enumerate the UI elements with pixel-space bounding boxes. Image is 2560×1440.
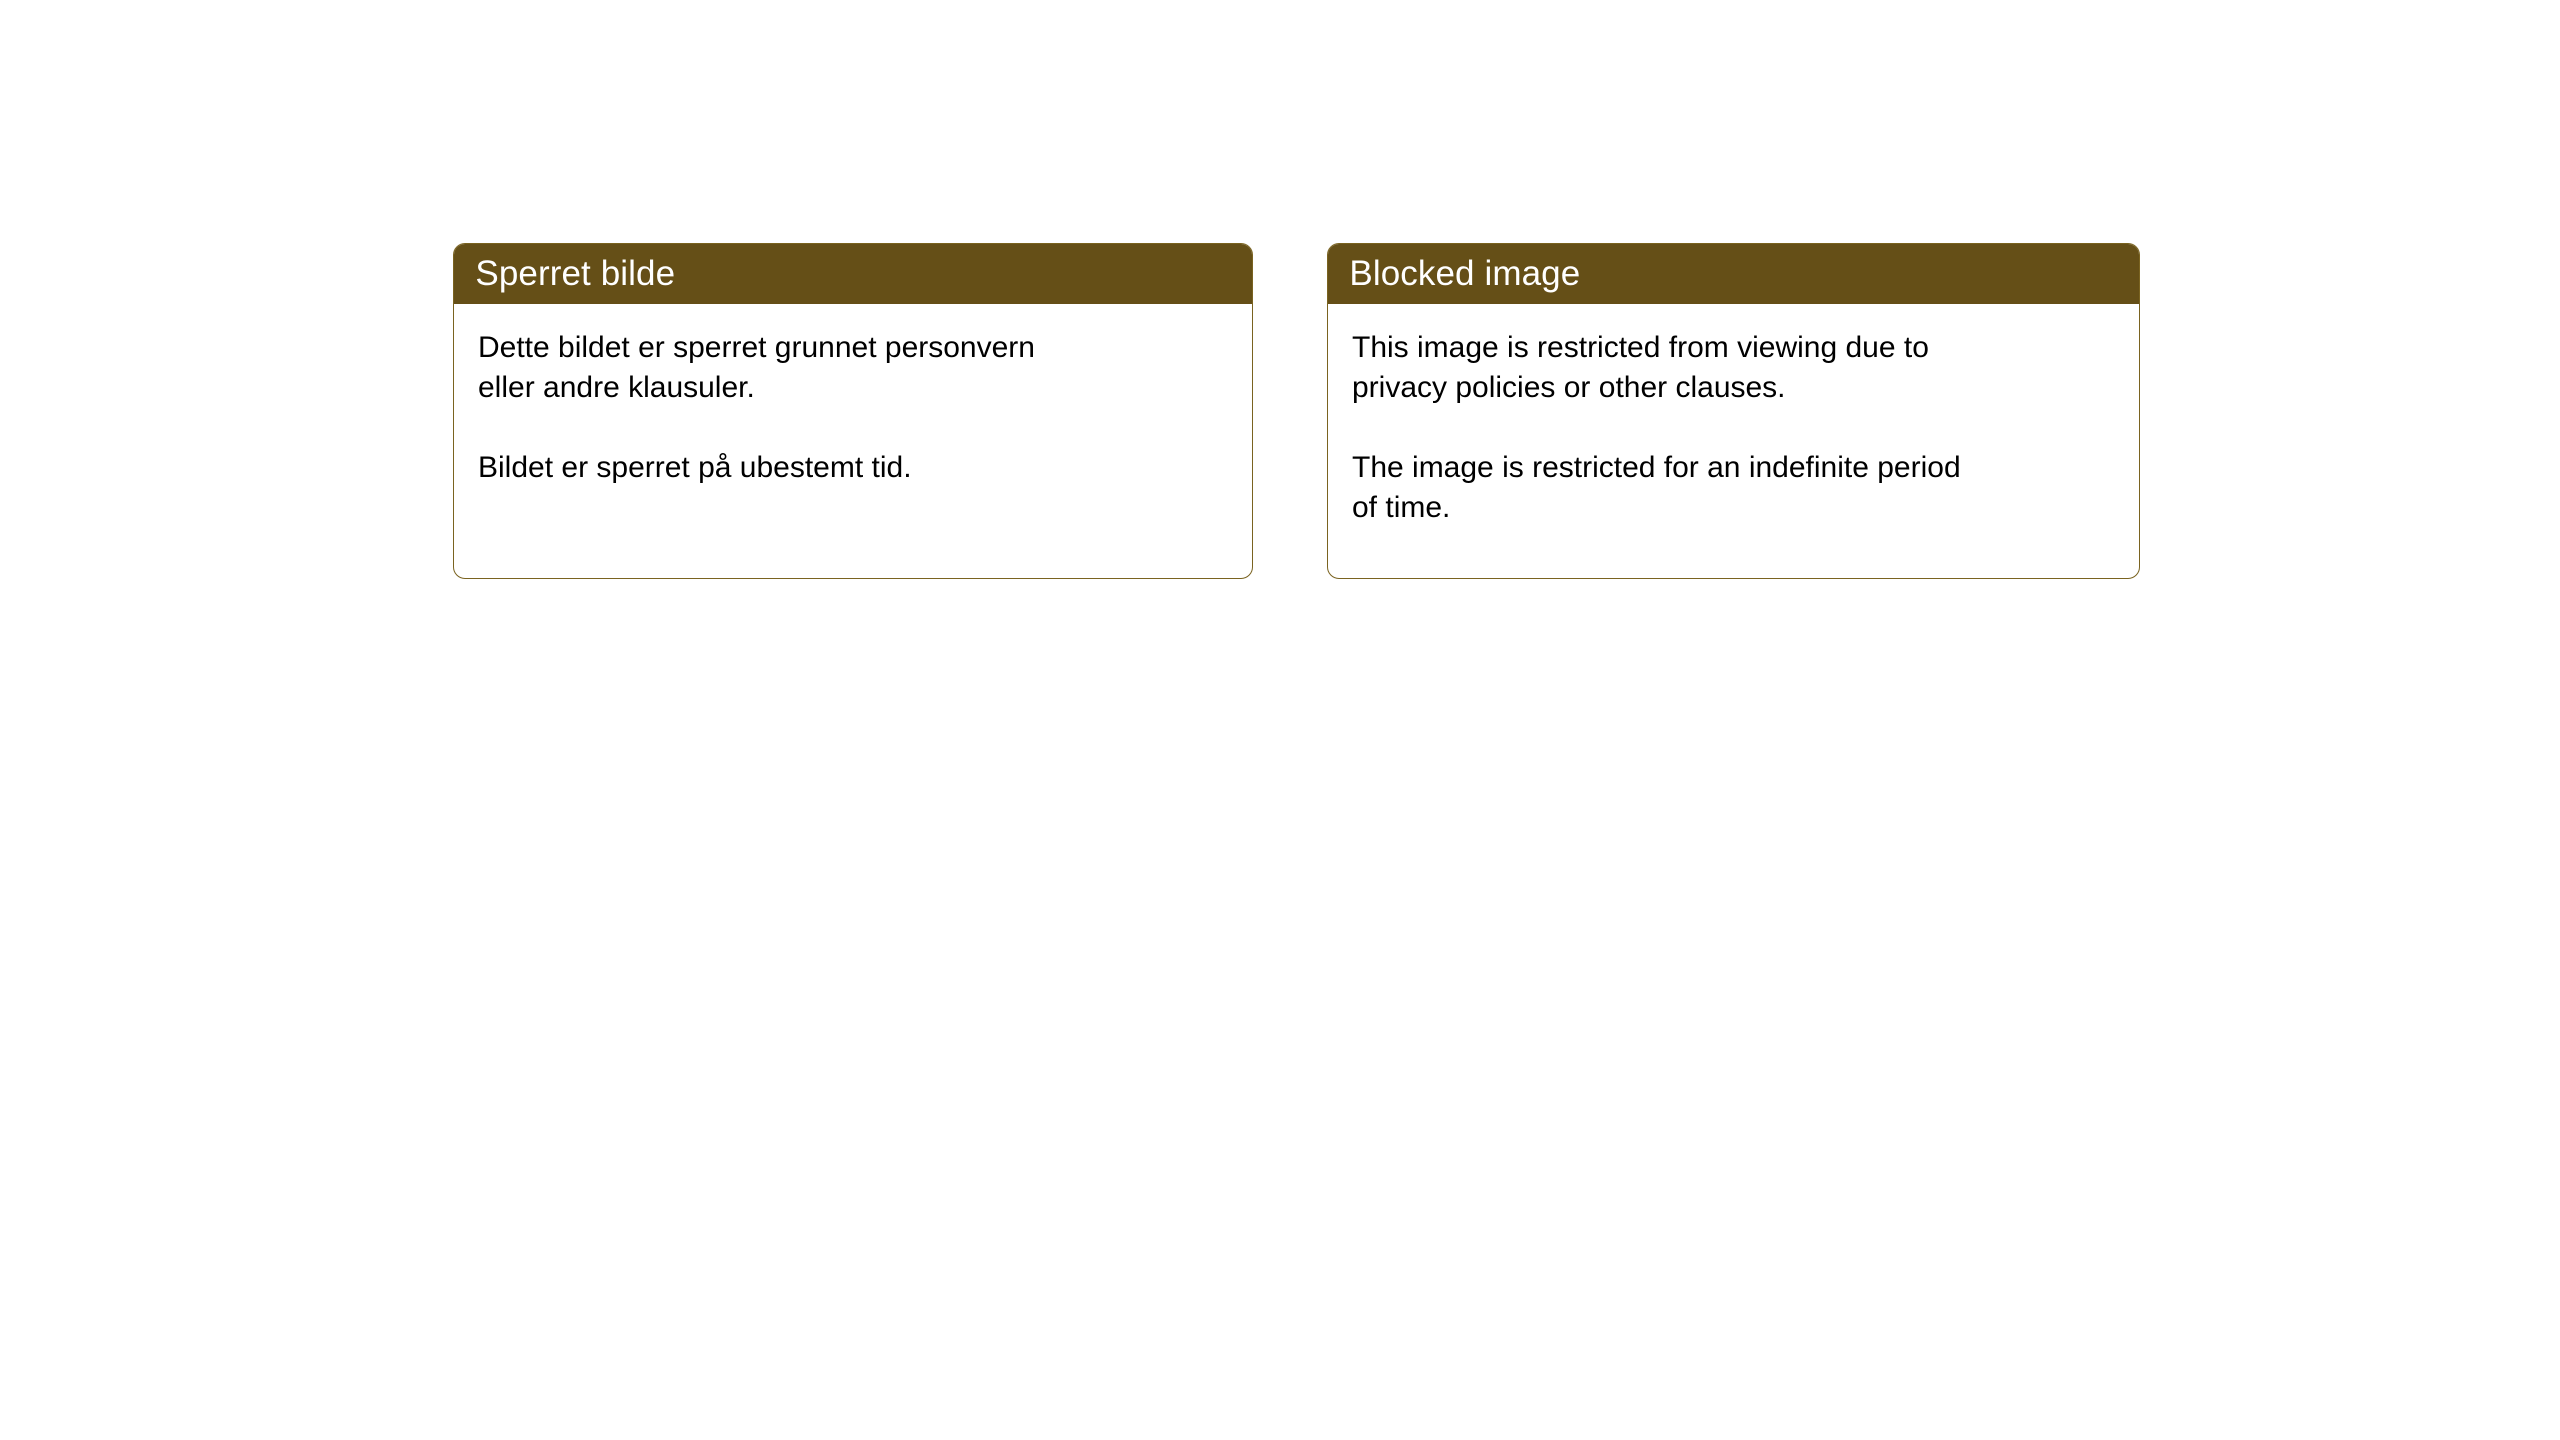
blocked-image-card-english: Blocked image This image is restricted f… [1327,243,2140,579]
card-body-english: This image is restricted from viewing du… [1328,304,2139,578]
card-paragraph-primary-english: This image is restricted from viewing du… [1352,328,2117,408]
card-paragraph-secondary-english: The image is restricted for an indefinit… [1352,448,2117,528]
card-title-norwegian: Sperret bilde [475,256,675,291]
paragraph-spacer [1352,408,2117,448]
blocked-image-card-norwegian: Sperret bilde Dette bildet er sperret gr… [453,243,1253,579]
paragraph-spacer [478,408,1230,448]
card-title-english: Blocked image [1349,256,1580,291]
blocked-image-notices: Sperret bilde Dette bildet er sperret gr… [453,243,2140,579]
card-body-norwegian: Dette bildet er sperret grunnet personve… [454,304,1252,578]
card-paragraph-secondary-norwegian: Bildet er sperret på ubestemt tid. [478,448,1230,488]
card-header-english: Blocked image [1327,243,2140,304]
card-header-norwegian: Sperret bilde [453,243,1253,304]
card-paragraph-primary-norwegian: Dette bildet er sperret grunnet personve… [478,328,1230,408]
